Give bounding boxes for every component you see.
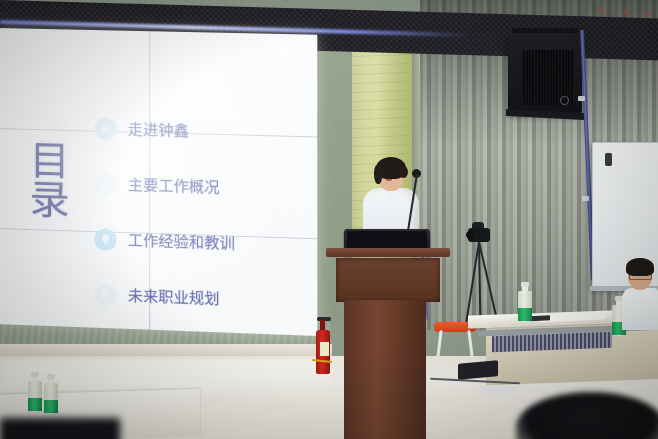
bottle-label: [28, 398, 42, 411]
slide-title: 目录: [18, 141, 82, 221]
flag-icon: [94, 283, 116, 306]
lightbulb-icon: [94, 228, 116, 251]
bottle-label: [518, 308, 532, 321]
seated-attendee-torso: [622, 288, 658, 330]
extinguisher-label: [320, 342, 329, 356]
toc-item-3: 工作经验和教训: [94, 211, 298, 273]
presenter-hair-bun: [399, 166, 408, 178]
camera-lens: [466, 231, 474, 239]
toc-item-label: 未来职业规划: [128, 285, 220, 309]
send-icon: [94, 117, 116, 140]
podium-top: [326, 248, 450, 257]
toc-item-4: 未来职业规划: [94, 266, 298, 329]
ceiling-indicator-light: [600, 8, 603, 11]
podium-column: [344, 300, 426, 439]
toc-item-label: 主要工作概况: [128, 174, 220, 198]
toc-item-label: 走进钟鑫: [128, 118, 189, 141]
water-bottle: [44, 374, 58, 414]
bottle-label: [44, 400, 58, 413]
conduit-clip: [578, 96, 585, 101]
chart-icon: [94, 172, 116, 195]
presentation-room-photo: 目录 走进钟鑫 主要工作概况 工作经验和教训: [0, 0, 658, 439]
speaker-logo: [560, 96, 569, 105]
slide-toc-list: 走进钟鑫 主要工作概况 工作经验和教训 未来职业规划: [94, 100, 298, 329]
conduit-clip: [582, 196, 589, 201]
power-strip: [480, 386, 514, 393]
toc-item-label: 工作经验和教训: [128, 229, 235, 254]
ceiling-indicator-light: [624, 10, 627, 13]
water-bottle: [518, 282, 532, 322]
podium-front-panel: [336, 258, 440, 302]
seated-attendee-hair: [626, 258, 654, 276]
foreground-shadow: [0, 418, 120, 439]
ceiling-indicator-light: [646, 12, 649, 15]
whiteboard-marker: [605, 153, 612, 166]
toc-item-1: 走进钟鑫: [94, 100, 298, 161]
toc-item-2: 主要工作概况: [94, 156, 298, 218]
water-bottle: [28, 372, 42, 412]
projection-screen: 目录 走进钟鑫 主要工作概况 工作经验和教训: [0, 28, 317, 336]
